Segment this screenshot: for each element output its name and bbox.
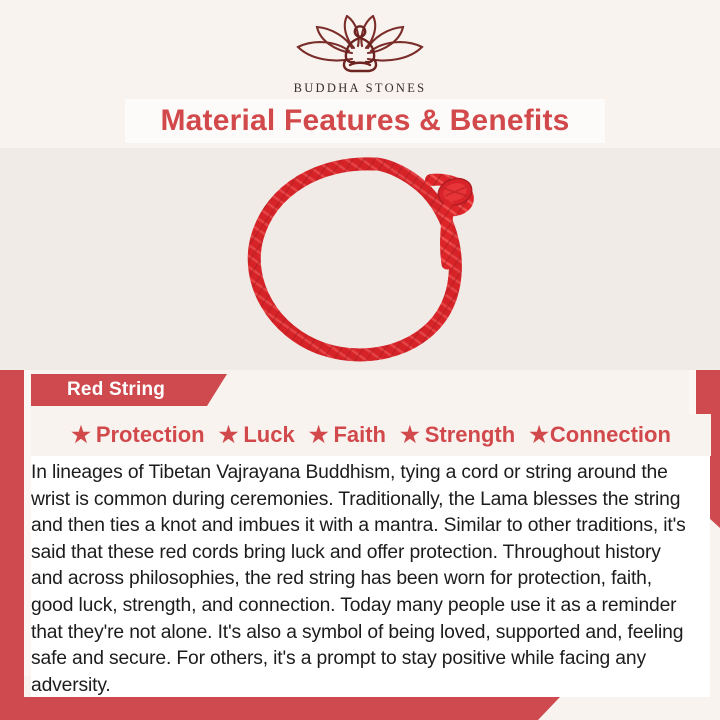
benefit-item-faith: ★ Faith	[304, 422, 391, 448]
benefits-row: ★ Protection ★ Luck ★ Faith ★ Strength ★…	[31, 414, 711, 456]
product-ribbon-label: Red String	[31, 374, 227, 406]
description-panel: In lineages of Tibetan Vajrayana Buddhis…	[31, 456, 710, 697]
product-image	[0, 148, 720, 370]
benefit-label: Protection	[96, 422, 205, 448]
brand-name: BUDDHA STONES	[294, 81, 427, 96]
lotus-meditation-icon	[292, 15, 428, 77]
star-icon: ★	[71, 424, 91, 446]
benefit-item-protection: ★ Protection	[66, 422, 210, 448]
benefit-label: Faith	[333, 422, 386, 448]
benefit-label: Strength	[425, 422, 515, 448]
description-text: In lineages of Tibetan Vajrayana Buddhis…	[31, 460, 696, 699]
benefit-label: Connection	[550, 422, 671, 448]
bottom-accent-bar	[0, 697, 560, 720]
page-title: Material Features & Benefits	[160, 104, 569, 138]
red-braided-string-bracelet-icon	[225, 148, 495, 370]
benefit-item-connection: ★ Connection	[524, 422, 676, 448]
star-icon: ★	[400, 424, 420, 446]
star-icon: ★	[309, 424, 329, 446]
infographic-page: BUDDHA STONES Material Features & Benefi…	[0, 0, 720, 720]
title-banner: Material Features & Benefits	[125, 99, 605, 143]
brand-logo: BUDDHA STONES	[0, 15, 720, 96]
header: BUDDHA STONES Material Features & Benefi…	[0, 0, 720, 148]
star-icon: ★	[529, 424, 549, 446]
star-icon: ★	[219, 424, 239, 446]
ribbon-text: Red String	[67, 379, 165, 401]
benefit-item-luck: ★ Luck	[214, 422, 300, 448]
benefit-label: Luck	[243, 422, 294, 448]
benefit-item-strength: ★ Strength	[395, 422, 520, 448]
